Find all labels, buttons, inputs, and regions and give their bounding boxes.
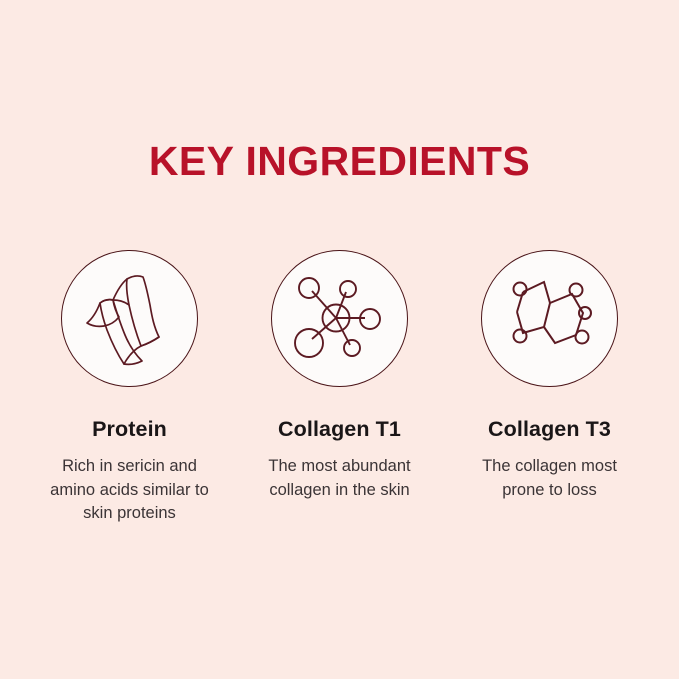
icon-circle-collagen-t3 — [481, 250, 618, 387]
ingredient-heading: Protein — [92, 416, 167, 442]
fused-hexagon-molecule-icon — [506, 275, 594, 363]
ingredient-card-collagen-t3: Collagen T3 The collagen most prone to l… — [445, 250, 655, 502]
silk-ribbon-icon — [80, 271, 180, 367]
ingredient-description: Rich in sericin and amino acids similar … — [44, 455, 216, 526]
ingredient-card-protein: Protein Rich in sericin and amino acids … — [25, 250, 235, 526]
icon-circle-collagen-t1 — [271, 250, 408, 387]
key-ingredients-infographic: KEY INGREDIENTS — [0, 0, 679, 679]
ingredient-description: The collagen most prone to loss — [467, 455, 633, 502]
ingredient-card-collagen-t1: Collagen T1 The most abundant collagen i… — [235, 250, 445, 502]
icon-circle-protein — [61, 250, 198, 387]
ingredient-description: The most abundant collagen in the skin — [251, 455, 429, 502]
molecule-star-icon — [292, 273, 388, 365]
ingredient-card-row: Protein Rich in sericin and amino acids … — [0, 250, 679, 526]
ingredient-heading: Collagen T3 — [488, 416, 611, 442]
ingredient-heading: Collagen T1 — [278, 416, 401, 442]
page-title: KEY INGREDIENTS — [0, 136, 679, 186]
